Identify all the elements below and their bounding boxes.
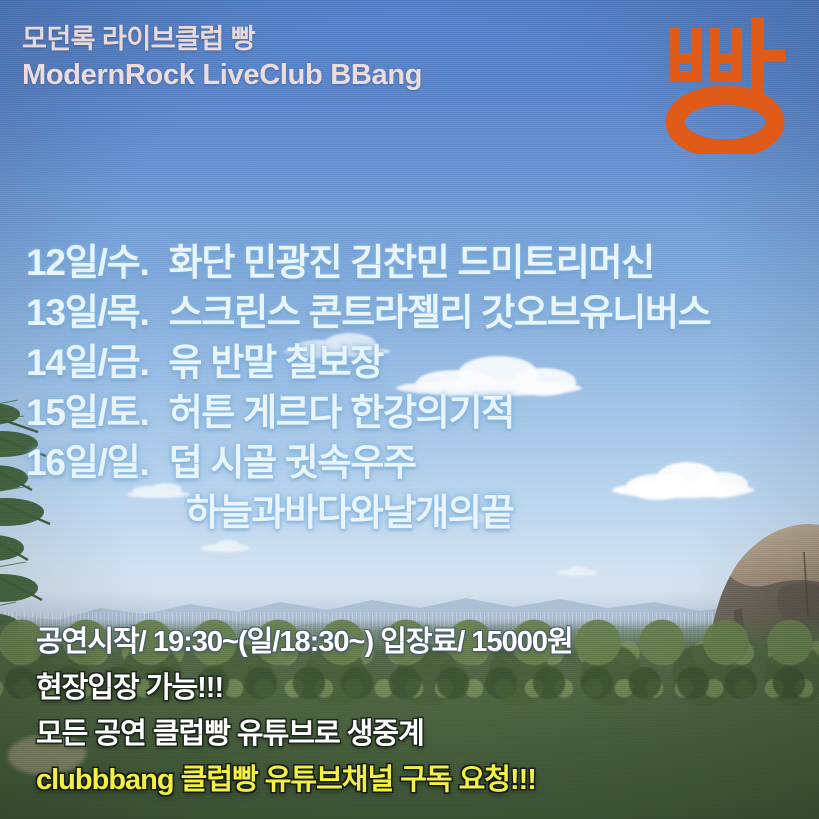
schedule-date: 12일/수.: [26, 232, 149, 286]
schedule-acts-continued: 하늘과바다와날개의끝: [186, 482, 513, 536]
poster-header: 모던록 라이브클럽 빵 ModernRock LiveClub BBang: [22, 22, 422, 94]
schedule-row: 13일/목. 스크린스 콘트라젤리 갓오브유니버스: [26, 282, 794, 332]
schedule-row: 12일/수. 화단 민광진 김찬민 드미트리머신: [26, 232, 794, 282]
schedule-date: 15일/토.: [26, 382, 149, 436]
schedule-acts: 윾 반말 칠보장: [169, 332, 383, 386]
schedule-date: 16일/일.: [26, 432, 149, 486]
info-block: 공연시작/ 19:30~(일/18:30~) 입장료/ 15000원 현장입장 …: [36, 628, 796, 795]
schedule-acts: 화단 민광진 김찬민 드미트리머신: [169, 232, 654, 286]
schedule-row: 15일/토. 허튼 게르다 한강의기적: [26, 382, 794, 432]
schedule-row-continuation: 하늘과바다와날개의끝: [26, 482, 794, 536]
club-title-english: ModernRock LiveClub BBang: [22, 57, 422, 94]
schedule-list: 12일/수. 화단 민광진 김찬민 드미트리머신 13일/목. 스크린스 콘트라…: [26, 232, 794, 536]
info-line-livestream: 모든 공연 클럽빵 유튜브로 생중계: [36, 720, 796, 749]
info-line-showtime-price: 공연시작/ 19:30~(일/18:30~) 입장료/ 15000원: [36, 628, 796, 657]
schedule-acts: 덥 시골 귓속우주: [169, 432, 416, 486]
poster-root: 모던록 라이브클럽 빵 ModernRock LiveClub BBang: [0, 0, 819, 819]
schedule-row: 14일/금. 윾 반말 칠보장: [26, 332, 794, 382]
schedule-row: 16일/일. 덥 시골 귓속우주: [26, 432, 794, 482]
schedule-date: 14일/금.: [26, 332, 149, 386]
info-line-walkin: 현장입장 가능!!!: [36, 674, 796, 703]
schedule-acts: 허튼 게르다 한강의기적: [169, 382, 514, 436]
schedule-date: 13일/목.: [26, 282, 149, 336]
schedule-acts: 스크린스 콘트라젤리 갓오브유니버스: [169, 282, 711, 336]
info-line-subscribe-cta: clubbbang 클럽빵 유튜브채널 구독 요청!!!: [36, 766, 796, 795]
bbang-logo-icon: [663, 14, 795, 154]
club-title-korean: 모던록 라이브클럽 빵: [22, 22, 422, 57]
